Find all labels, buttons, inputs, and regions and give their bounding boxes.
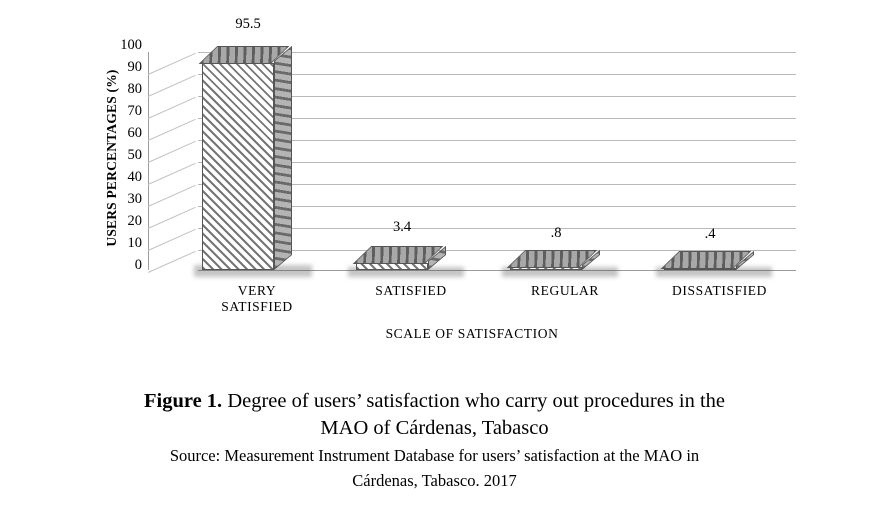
bar-value-label: .4	[662, 226, 758, 243]
caption-title-text-1: Degree of users’ satisfaction who carry …	[227, 390, 725, 412]
y-tick-label: 100	[108, 38, 142, 52]
depth-connector	[148, 97, 196, 119]
category-label-regular: REGULAR	[490, 283, 640, 299]
depth-connector	[148, 185, 196, 207]
depth-connector	[148, 229, 196, 251]
caption-source-line-2: Cárdenas, Tabasco. 2017	[0, 467, 869, 492]
depth-connector	[148, 141, 196, 163]
y-tick-label: 20	[108, 214, 142, 228]
category-label-dissatisfied: DISSATISFIED	[642, 283, 797, 299]
y-tick-label: 10	[108, 236, 142, 250]
depth-connector	[148, 251, 196, 273]
category-label-satisfied: SATISFIED	[336, 283, 486, 299]
category-label-line: VERY	[182, 283, 332, 299]
bar-front-face	[202, 63, 274, 270]
caption-source-line-1: Source: Measurement Instrument Database …	[0, 442, 869, 467]
depth-connector	[148, 207, 196, 229]
y-tick-label: 60	[108, 126, 142, 140]
category-label-very-satisfied: VERY SATISFIED	[182, 283, 332, 315]
depth-connector	[148, 163, 196, 185]
bar-side-face	[274, 46, 292, 270]
y-tick-label: 50	[108, 148, 142, 162]
depth-connector	[148, 53, 196, 75]
y-axis-tick-labels: 100 90 80 70 60 50 40 30 20 10 0	[108, 38, 142, 273]
y-tick-label: 0	[108, 258, 142, 272]
y-tick-label: 40	[108, 170, 142, 184]
y-tick-label: 70	[108, 104, 142, 118]
figure-number-label: Figure 1.	[144, 390, 222, 412]
caption-title-line-1: Figure 1. Degree of users’ satisfaction …	[0, 388, 869, 415]
figure-caption: Figure 1. Degree of users’ satisfaction …	[0, 388, 869, 492]
figure-chart: USERS PERCENTAGES (%) 100 90 80 70 60 50…	[0, 0, 869, 380]
category-label-line: SATISFIED	[182, 299, 332, 315]
plot-area: 95.5 3.4 .8 .4	[148, 30, 796, 278]
bar-front-face	[356, 263, 428, 270]
bar-value-label: .8	[508, 225, 604, 242]
y-tick-label: 30	[108, 192, 142, 206]
depth-connector	[148, 75, 196, 97]
caption-title-line-2: MAO of Cárdenas, Tabasco	[0, 415, 869, 442]
x-axis-category-labels: VERY SATISFIED SATISFIED REGULAR DISSATI…	[148, 283, 796, 327]
depth-connector	[148, 119, 196, 141]
bar-value-label: 3.4	[354, 219, 450, 236]
x-axis-title: SCALE OF SATISFACTION	[148, 326, 796, 342]
bar-value-label: 95.5	[200, 16, 296, 33]
y-tick-label: 90	[108, 60, 142, 74]
y-tick-label: 80	[108, 82, 142, 96]
